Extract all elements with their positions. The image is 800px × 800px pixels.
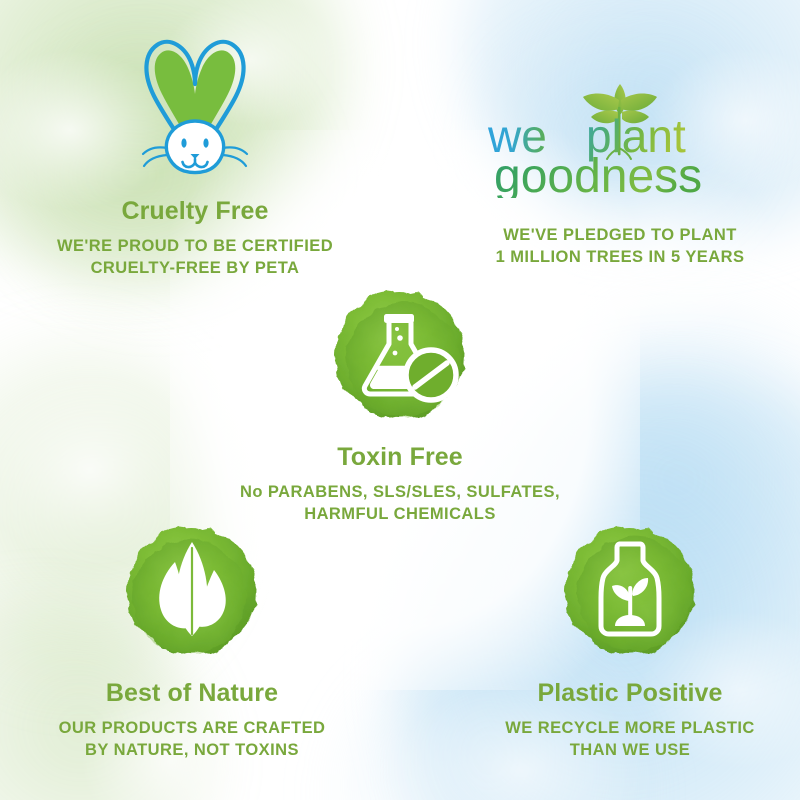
whisker-right-1 — [223, 147, 247, 154]
bottle-sprout-icon — [557, 518, 703, 664]
feature-description-cruelty-free: WE'RE PROUD TO BE CERTIFIED CRUELTY-FREE… — [15, 235, 375, 280]
sprout-leaf-upper-left — [583, 94, 619, 111]
feature-line: WE'RE PROUD TO BE CERTIFIED — [15, 235, 375, 257]
whisker-left-2 — [144, 155, 167, 166]
feature-plastic-positive: Plastic Positive WE RECYCLE MORE PLASTIC… — [450, 518, 800, 761]
feature-line: 1 MILLION TREES IN 5 YEARS — [455, 246, 785, 268]
feature-description-we-plant-goodness: WE'VE PLEDGED TO PLANT 1 MILLION TREES I… — [455, 224, 785, 269]
bunny-eye-right — [203, 138, 208, 147]
logo-word-goodness: goodness — [494, 150, 702, 198]
whisker-left-1 — [143, 147, 167, 154]
feature-line: BY NATURE, NOT TOXINS — [12, 739, 372, 761]
feature-description-best-of-nature: OUR PRODUCTS ARE CRAFTED BY NATURE, NOT … — [12, 717, 372, 762]
feature-toxin-free: Toxin Free No PARABENS, SLS/SLES, SULFAT… — [220, 282, 580, 525]
we-plant-goodness-logo: we plant goodness — [470, 78, 770, 198]
flask-bubble-3 — [395, 327, 399, 331]
feature-description-plastic-positive: WE RECYCLE MORE PLASTIC THAN WE USE — [450, 717, 800, 762]
feature-heading-plastic-positive: Plastic Positive — [450, 680, 800, 708]
flask-no-toxins-icon — [327, 282, 473, 428]
feature-line: OUR PRODUCTS ARE CRAFTED — [12, 717, 372, 739]
leaves-icon — [119, 518, 265, 664]
feature-heading-best-of-nature: Best of Nature — [12, 680, 372, 708]
flask-bubble-1 — [397, 335, 403, 341]
feature-we-plant-goodness: we plant goodness WE'VE PLEDGED TO PLANT… — [455, 78, 785, 269]
feature-best-of-nature: Best of Nature OUR PRODUCTS ARE CRAFTED … — [12, 518, 372, 761]
feature-line: THAN WE USE — [450, 739, 800, 761]
prohibition-sign — [406, 350, 456, 400]
feature-line: WE RECYCLE MORE PLASTIC — [450, 717, 800, 739]
feature-line: WE'VE PLEDGED TO PLANT — [455, 224, 785, 246]
peta-bunny-icon — [120, 28, 270, 180]
sprout-leaf-upper-right — [621, 94, 657, 111]
feature-line: No PARABENS, SLS/SLES, SULFATES, — [220, 481, 580, 503]
feature-cruelty-free: Cruelty Free WE'RE PROUD TO BE CERTIFIED… — [15, 28, 375, 279]
whisker-right-2 — [223, 155, 246, 166]
feature-line: CRUELTY-FREE BY PETA — [15, 257, 375, 279]
bunny-eye-left — [181, 138, 186, 147]
feature-heading-cruelty-free: Cruelty Free — [15, 198, 375, 226]
brand-values-infographic: Cruelty Free WE'RE PROUD TO BE CERTIFIED… — [0, 0, 800, 800]
feature-heading-toxin-free: Toxin Free — [220, 444, 580, 472]
flask-bubble-2 — [393, 351, 398, 356]
